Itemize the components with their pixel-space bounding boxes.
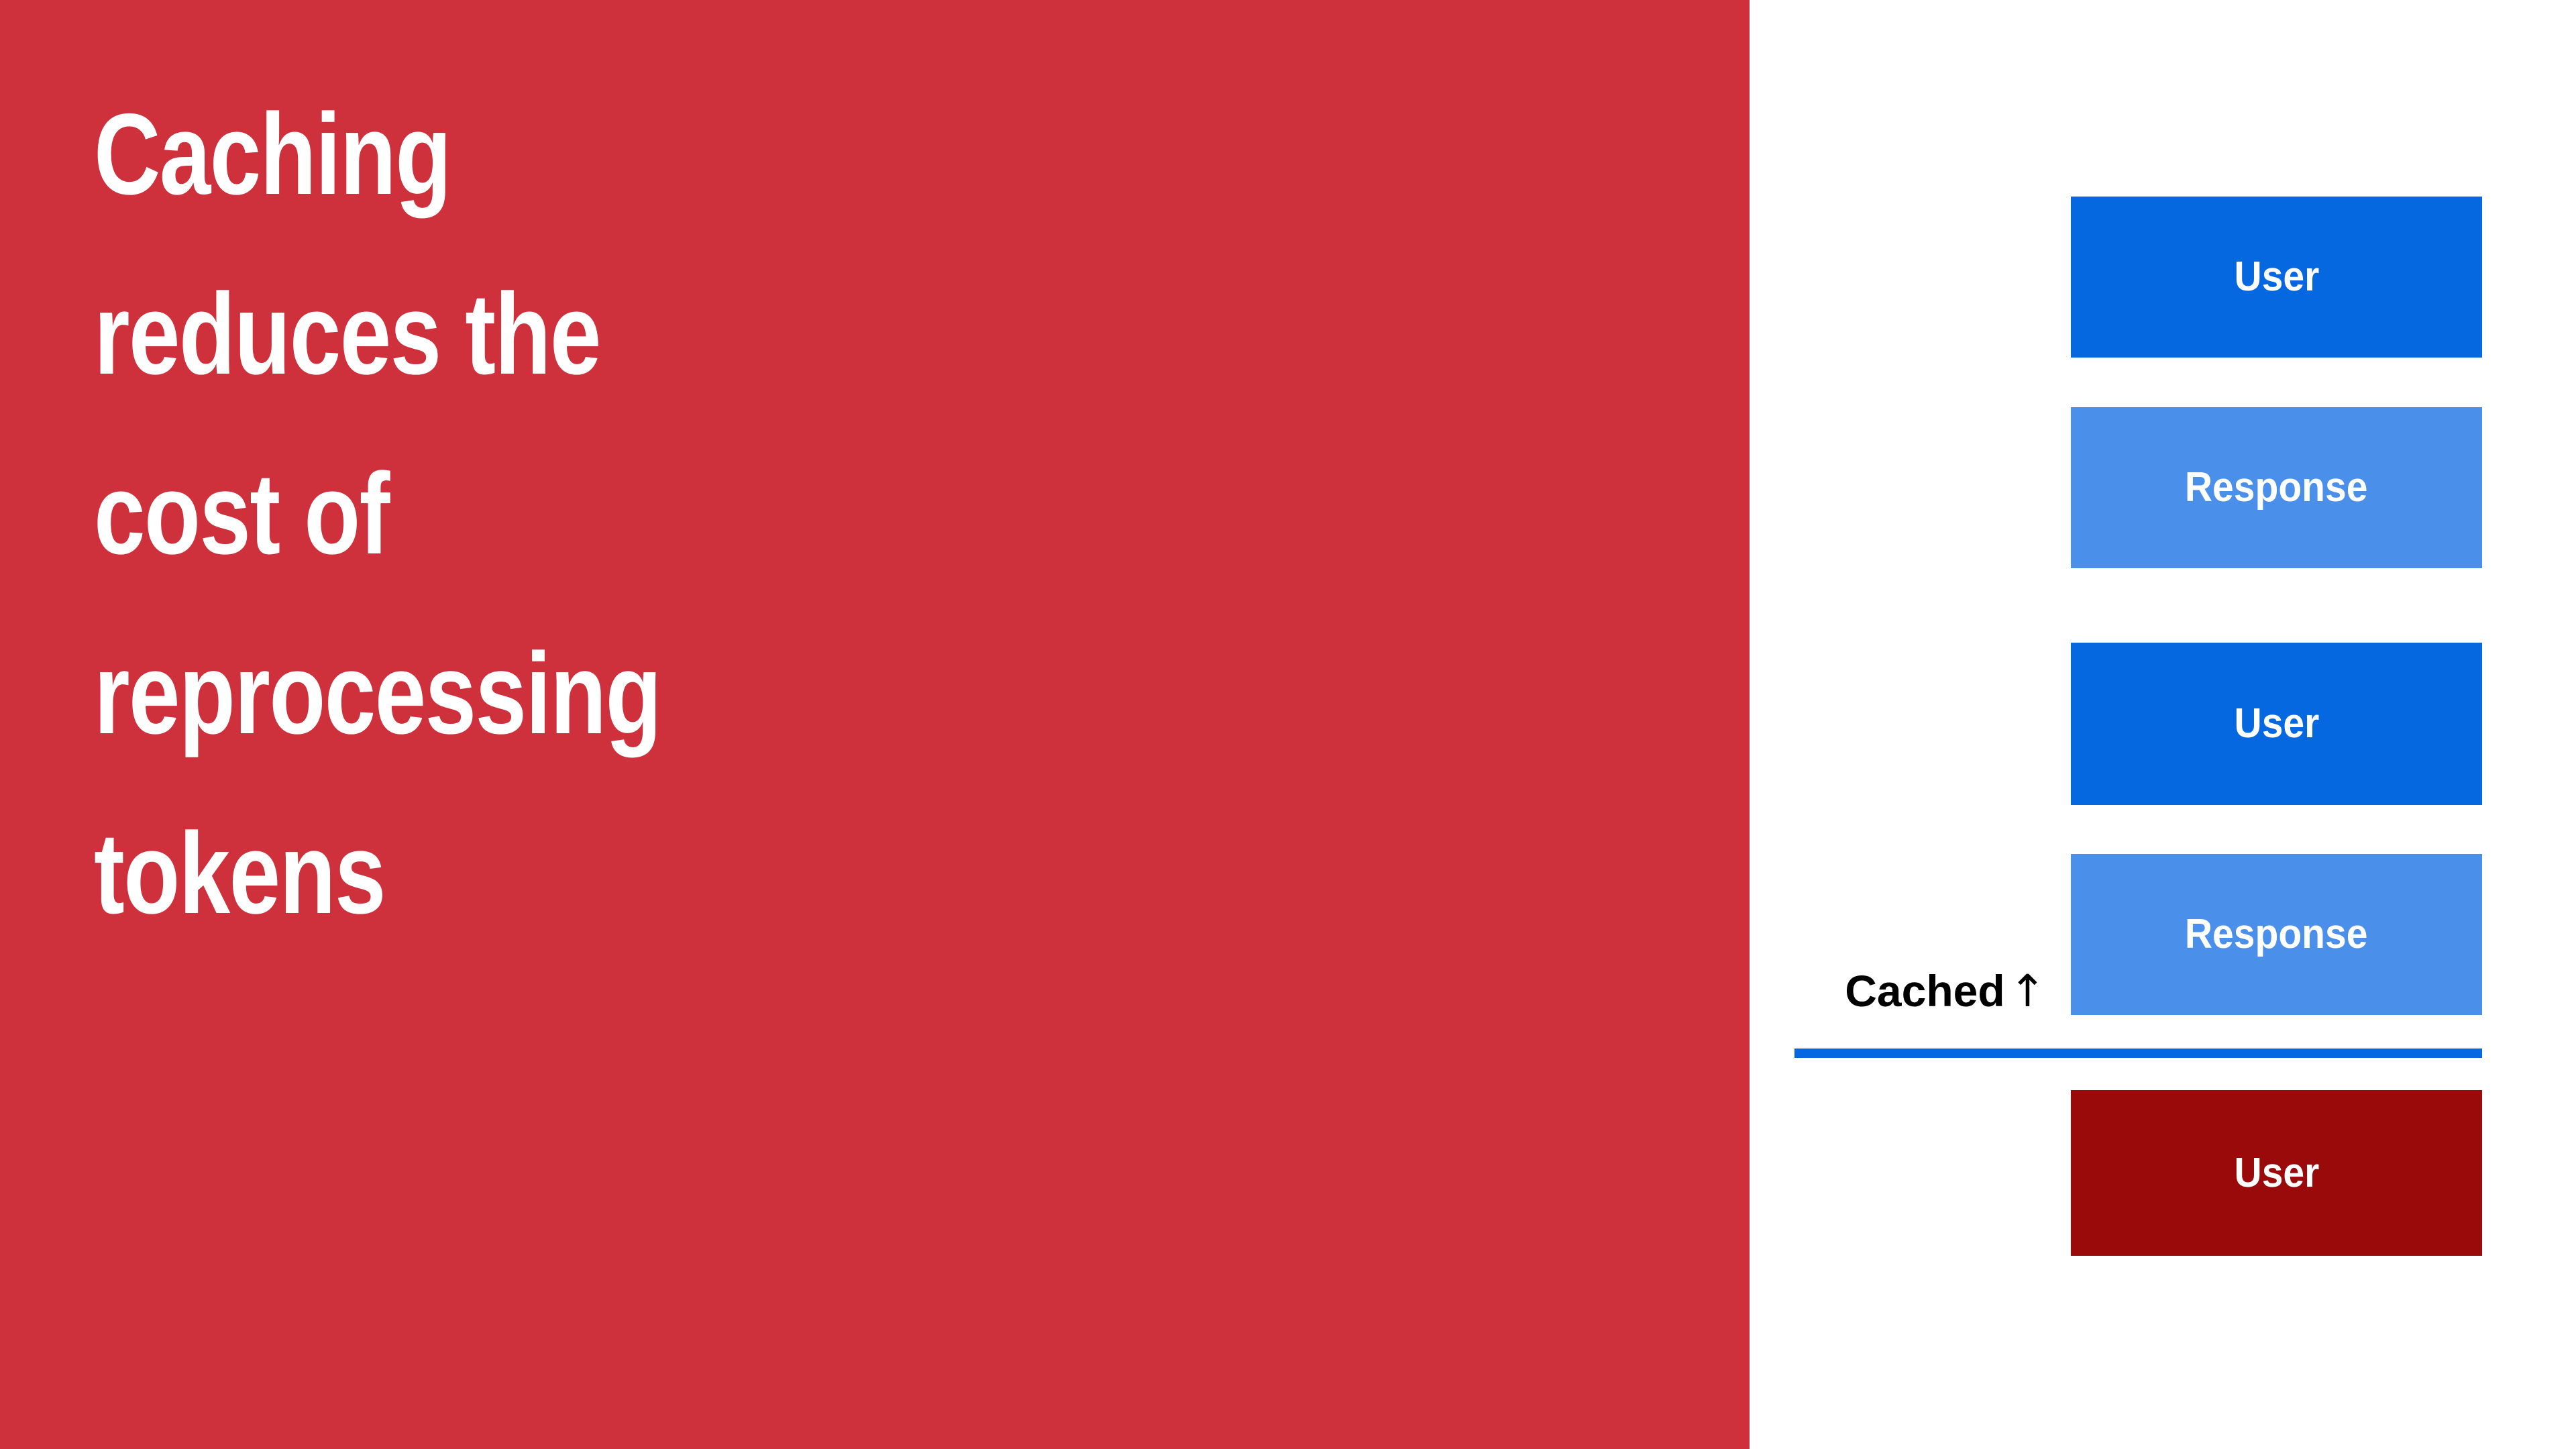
cached-boundary-label: Cached↑ [1750, 965, 2046, 1018]
headline-panel: Caching reduces the cost of reprocessing… [0, 0, 1750, 1449]
message-block-user-3-uncached: User [2071, 1090, 2482, 1256]
message-block-label: Response [2185, 467, 2368, 508]
cached-label-text: Cached [1845, 966, 2004, 1016]
cache-boundary-divider [1794, 1049, 2482, 1058]
message-block-user-1: User [2071, 197, 2482, 358]
message-block-label: User [2234, 256, 2319, 298]
message-block-response-1: Response [2071, 407, 2482, 568]
arrow-up-icon: ↑ [2009, 965, 2046, 1018]
message-block-label: Response [2185, 914, 2368, 955]
slide-canvas: Caching reduces the cost of reprocessing… [0, 0, 2576, 1449]
conversation-cache-diagram: User Response User Response Cached↑ User [1750, 0, 2576, 1449]
message-block-label: User [2234, 703, 2319, 745]
message-block-label: User [2234, 1152, 2319, 1194]
message-block-response-2: Response [2071, 854, 2482, 1015]
message-block-user-2: User [2071, 643, 2482, 805]
page-title: Caching reduces the cost of reprocessing… [94, 64, 1221, 963]
